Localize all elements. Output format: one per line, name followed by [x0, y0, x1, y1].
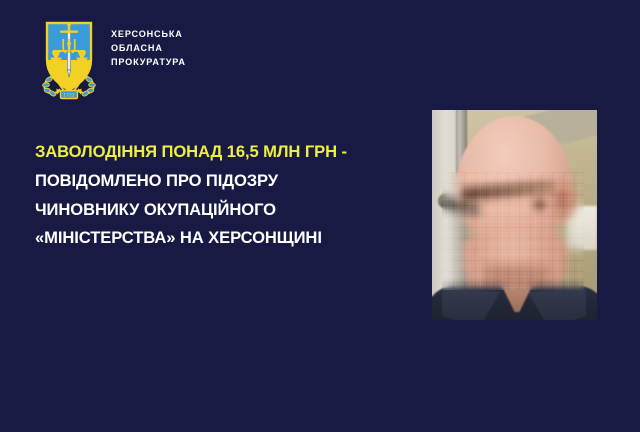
emblem-ribbon-text: 1722 [63, 93, 75, 99]
headline-line-2: ПОВІДОМЛЕНО ПРО ПІДОЗРУ [35, 167, 407, 196]
headline-line-3: ЧИНОВНИКУ ОКУПАЦІЙНОГО [35, 196, 407, 225]
organization-line-2: ОБЛАСНА [111, 42, 186, 56]
announcement-card: 1722 ХЕРСОНСЬКА ОБЛАСНА ПРОКУРАТУРА ЗАВО… [0, 0, 640, 432]
face-pixelation-mask [442, 172, 584, 290]
headline-line-1: ЗАВОЛОДІННЯ ПОНАД 16,5 МЛН ГРН - [35, 138, 407, 167]
prosecutor-office-emblem-icon: 1722 [38, 20, 100, 102]
logo-lockup: 1722 ХЕРСОНСЬКА ОБЛАСНА ПРОКУРАТУРА [38, 20, 186, 102]
headline: ЗАВОЛОДІННЯ ПОНАД 16,5 МЛН ГРН - ПОВІДОМ… [35, 138, 407, 253]
organization-line-1: ХЕРСОНСЬКА [111, 28, 186, 42]
headline-line-4: «МІНІСТЕРСТВА» НА ХЕРСОНЩИНІ [35, 224, 407, 253]
organization-line-3: ПРОКУРАТУРА [111, 56, 186, 70]
organization-name: ХЕРСОНСЬКА ОБЛАСНА ПРОКУРАТУРА [111, 20, 186, 69]
suspect-photo [432, 110, 597, 320]
